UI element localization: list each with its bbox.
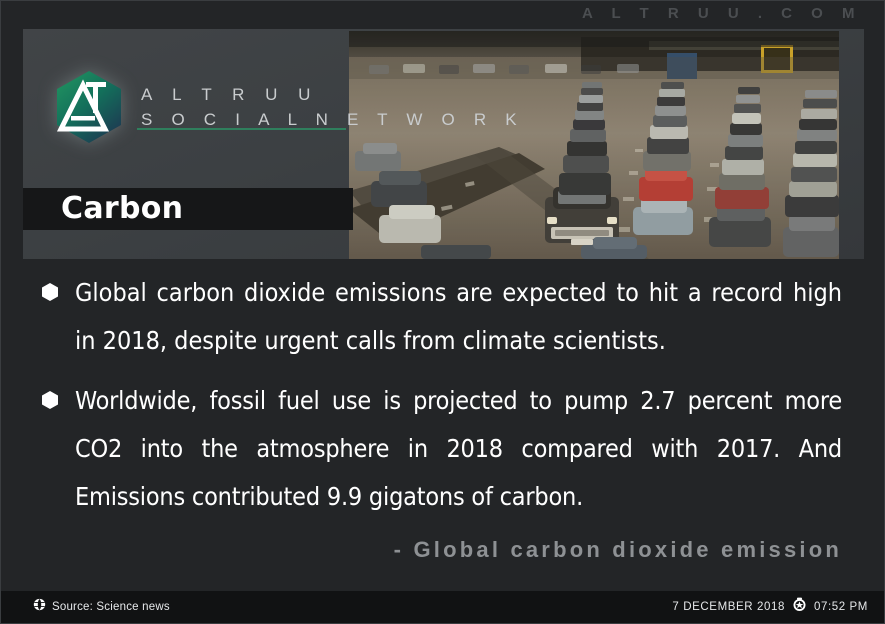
source-label: Source: Science news xyxy=(52,601,170,613)
hero-image xyxy=(349,31,839,259)
hexagon-bullet-icon xyxy=(41,390,59,410)
brand-lockup: A L T R U U S O C I A L N E T W O R K xyxy=(53,67,353,147)
attribution-line: - Global carbon dioxide emission xyxy=(1,537,885,563)
body-content: Global carbon dioxide emissions are expe… xyxy=(1,269,885,563)
footer-bar: Source: Science news 7 DECEMBER 2018 07:… xyxy=(1,591,885,623)
brand-name: A L T R U U xyxy=(141,83,524,108)
list-item: Worldwide, fossil fuel use is projected … xyxy=(1,377,885,521)
altruu-hexagon-logo-icon xyxy=(53,69,125,145)
globe-icon xyxy=(33,598,46,616)
hexagon-bullet-icon xyxy=(41,282,59,302)
list-item-text: Global carbon dioxide emissions are expe… xyxy=(75,269,842,365)
date-label: 7 DECEMBER 2018 xyxy=(672,601,785,613)
brand-text: A L T R U U S O C I A L N E T W O R K xyxy=(141,81,524,132)
footer-timestamp: 7 DECEMBER 2018 07:52 PM xyxy=(672,597,868,617)
site-watermark: A L T R U U . C O M xyxy=(582,5,862,22)
list-item-text: Worldwide, fossil fuel use is projected … xyxy=(75,377,842,521)
footer-source: Source: Science news xyxy=(33,598,170,616)
time-label: 07:52 PM xyxy=(814,601,868,613)
highway-traffic-jam-photo xyxy=(349,31,839,259)
clock-badge-icon xyxy=(792,597,807,617)
page-title: Carbon xyxy=(61,191,183,226)
altruu-news-card: A L T R U U . C O M xyxy=(0,0,885,624)
list-item: Global carbon dioxide emissions are expe… xyxy=(1,269,885,365)
brand-accent-rule xyxy=(137,128,346,130)
